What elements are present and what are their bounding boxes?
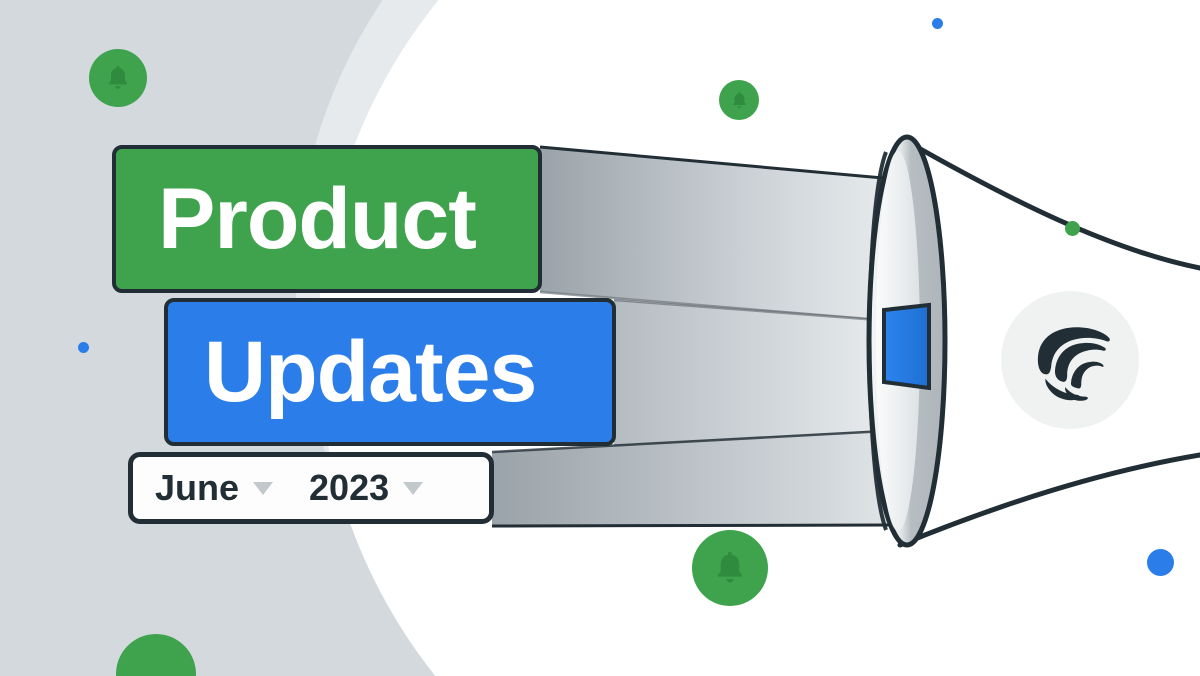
bell-badge-bottom-center (692, 530, 768, 606)
jotform-wave-logo (1023, 313, 1117, 407)
year-value: 2023 (309, 470, 389, 506)
year-dropdown[interactable]: 2023 (309, 470, 423, 506)
banner-canvas: Product Updates June 2023 (0, 0, 1200, 676)
title-line-2: Updates (168, 329, 536, 415)
chevron-down-icon[interactable] (253, 482, 273, 495)
date-row: June 2023 (133, 470, 489, 506)
chevron-down-icon[interactable] (403, 482, 423, 495)
bell-icon (729, 90, 750, 111)
updates-title-card: Updates (164, 298, 616, 446)
dot-blue-small-left (78, 342, 89, 353)
month-dropdown[interactable]: June (155, 470, 273, 506)
product-title-card: Product (112, 145, 542, 293)
dot-blue-small-top (932, 18, 943, 29)
month-value: June (155, 470, 239, 506)
brand-logo-circle (1001, 291, 1139, 429)
bell-icon (103, 63, 133, 93)
bell-icon (710, 548, 750, 588)
bell-badge-top-center (719, 80, 759, 120)
dot-green-horn-line (1065, 221, 1080, 236)
date-selector-card[interactable]: June 2023 (128, 452, 494, 524)
title-line-1: Product (116, 176, 476, 262)
dot-blue-large (1147, 549, 1174, 576)
bell-badge-top-left (89, 49, 147, 107)
dot-green-bottom-left (116, 634, 196, 676)
